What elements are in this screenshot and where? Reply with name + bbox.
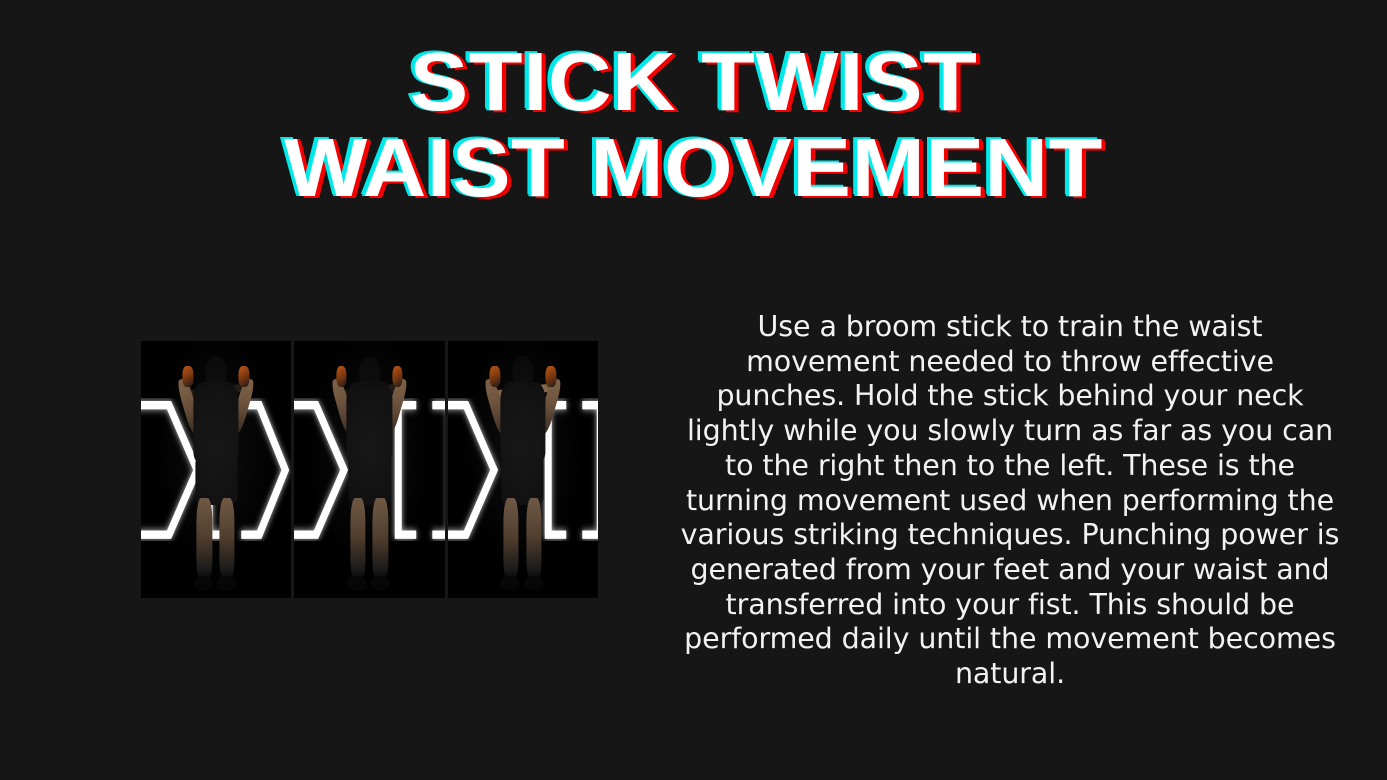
left-shoe [501,576,520,590]
photo-strip [141,341,598,598]
photo-panel-2 [294,341,444,598]
right-shoe [371,576,390,590]
left-shoe [194,576,213,590]
athlete-figure [329,356,410,592]
left-glove [183,366,194,387]
left-glove [336,366,347,387]
torso [347,382,392,462]
page-title: STICK TWIST WAIST MOVEMENT [0,42,1387,207]
left-shoe [348,576,367,590]
left-leg [503,498,518,578]
title-line-2: WAIST MOVEMENT [0,128,1387,208]
right-shoe [218,576,237,590]
right-leg [526,498,541,578]
photo-panel-3 [448,341,598,598]
body-paragraph: Use a broom stick to train the waist mov… [680,310,1340,692]
right-glove [392,366,403,387]
left-leg [197,498,212,578]
slide: STICK TWIST WAIST MOVEMENT [0,0,1387,780]
right-shoe [524,576,543,590]
right-glove [546,366,557,387]
photo-panel-1 [141,341,291,598]
right-leg [373,498,388,578]
torso [500,382,545,462]
athlete-figure [482,356,563,592]
torso [193,382,238,462]
left-glove [490,366,501,387]
right-leg [219,498,234,578]
title-line-1: STICK TWIST [0,42,1387,122]
left-leg [350,498,365,578]
athlete-figure [176,356,257,592]
right-glove [239,366,250,387]
